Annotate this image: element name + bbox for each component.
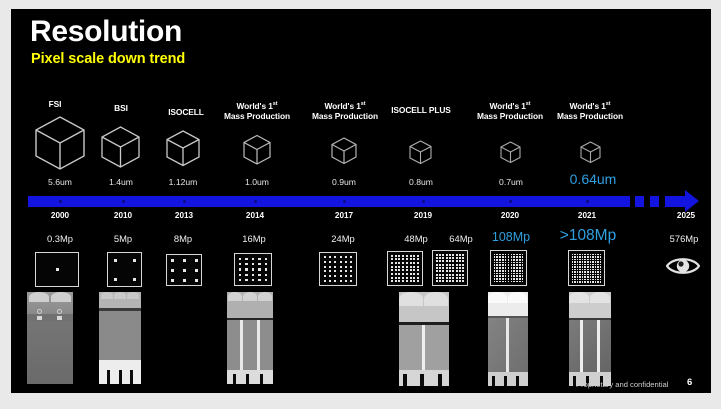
year-2013: 2013 (155, 211, 213, 220)
cube-icon-1um (240, 133, 274, 167)
year-2021: 2021 (558, 211, 616, 220)
ordinal-suffix: st (526, 101, 531, 107)
page-number: 6 (687, 377, 692, 388)
sem-image-isocell (227, 292, 273, 384)
sem-image-108mp (488, 292, 528, 386)
footer-confidentiality-note: Proprietary and confidential (576, 380, 668, 389)
timeline-marker-2020 (509, 200, 512, 203)
timeline-bar (28, 196, 630, 207)
pixel-grid-8mp (166, 254, 202, 286)
sem-image-over-108mp (569, 292, 611, 386)
resolution-2013: 8Mp (154, 233, 212, 244)
cube-icon-09um (329, 136, 359, 166)
cube-icon-fsi (31, 113, 89, 171)
ordinal-suffix: st (606, 101, 611, 107)
resolution-2020: 108Mp (479, 230, 543, 244)
timeline-dash-2 (650, 196, 659, 207)
timeline-marker-2013 (183, 200, 186, 203)
resolution-2021: >108Mp (548, 227, 628, 245)
tech-label-line1: World's 1 (324, 101, 360, 111)
pixel-size-2000: 5.6um (30, 177, 90, 187)
timeline-marker-2019 (422, 200, 425, 203)
cube-icon-bsi (98, 124, 143, 169)
pixel-grid-16mp (234, 253, 272, 286)
year-2020: 2020 (481, 211, 539, 220)
pixel-grid-over-108mp (568, 250, 605, 286)
slide-canvas: Resolution Pixel scale down trend FSI BS… (11, 9, 711, 393)
sem-image-bsi (99, 292, 141, 384)
cube-icon-07um (498, 140, 523, 165)
timeline-marker-2021 (586, 200, 589, 203)
pixel-grid-24mp (319, 252, 357, 286)
pixel-size-2010: 1.4um (91, 177, 151, 187)
year-2025: 2025 (657, 211, 711, 220)
tech-label-worlds-first-2021: World's 1st Mass Production (534, 99, 646, 121)
pixel-size-2019: 0.8um (391, 177, 451, 187)
resolution-2014: 16Mp (225, 233, 283, 244)
sem-image-fsi (27, 292, 73, 384)
timeline-marker-2000 (59, 200, 62, 203)
timeline-marker-2014 (254, 200, 257, 203)
tech-label-line2: Mass Production (224, 111, 290, 121)
tech-label-line1: World's 1 (489, 101, 525, 111)
page-subtitle: Pixel scale down trend (31, 51, 185, 67)
tech-label-line1: World's 1 (236, 101, 272, 111)
pixel-grid-64mp (432, 250, 468, 286)
eye-icon (666, 255, 700, 277)
pixel-size-2014: 1.0um (227, 177, 287, 187)
year-2019: 2019 (394, 211, 452, 220)
pixel-grid-108mp (490, 250, 527, 286)
year-2000: 2000 (31, 211, 89, 220)
pixel-size-2021: 0.64um (553, 171, 633, 187)
pixel-grid-5mp (107, 252, 142, 287)
pixel-grid-0.3mp (35, 252, 79, 287)
year-2014: 2014 (226, 211, 284, 220)
page-title: Resolution (30, 15, 182, 49)
tech-label-line2: Mass Production (557, 111, 623, 121)
year-2017: 2017 (315, 211, 373, 220)
tech-label-line1: World's 1 (569, 101, 605, 111)
pixel-size-2017: 0.9um (314, 177, 374, 187)
sem-image-isocell-plus (399, 292, 449, 386)
cube-icon-08um (407, 139, 434, 166)
resolution-2010: 5Mp (94, 233, 152, 244)
pixel-size-2013: 1.12um (153, 177, 213, 187)
pixel-size-2020: 0.7um (481, 177, 541, 187)
cube-icon-064um (578, 140, 603, 165)
resolution-2000: 0.3Mp (28, 233, 92, 244)
timeline-marker-2010 (122, 200, 125, 203)
resolution-2025: 576Mp (655, 233, 711, 244)
pixel-grid-48mp (387, 251, 423, 286)
year-2010: 2010 (94, 211, 152, 220)
timeline-arrow-shaft (665, 196, 687, 207)
resolution-2017: 24Mp (314, 233, 372, 244)
tech-label-fsi: FSI (20, 99, 90, 109)
cube-icon-isocell (163, 128, 203, 168)
timeline-arrow-icon (685, 190, 699, 212)
timeline-dash-1 (635, 196, 644, 207)
timeline-marker-2017 (343, 200, 346, 203)
ordinal-suffix: st (273, 101, 278, 107)
